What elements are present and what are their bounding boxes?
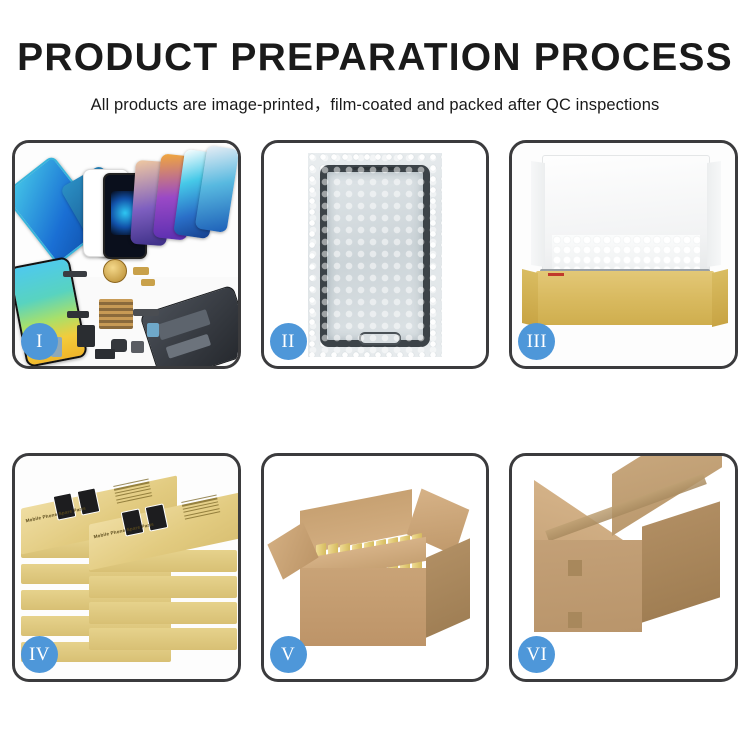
part-gold-clip bbox=[141, 279, 155, 286]
carton-tab-lower bbox=[568, 612, 582, 628]
carton-front-panel bbox=[300, 568, 426, 646]
box-layer-r3 bbox=[89, 576, 237, 598]
page-header: PRODUCT PREPARATION PROCESS All products… bbox=[0, 0, 750, 115]
step-badge-2: II bbox=[270, 323, 307, 360]
part-gold-bracket bbox=[133, 267, 149, 275]
process-step-6[interactable]: VI bbox=[509, 453, 738, 682]
part-shield bbox=[95, 349, 115, 359]
process-step-3[interactable]: III bbox=[509, 140, 738, 369]
part-vibrator bbox=[131, 341, 144, 353]
kraft-box-tray bbox=[536, 271, 714, 325]
process-step-5[interactable]: V bbox=[261, 453, 490, 682]
page-subtitle: All products are image-printed，film-coat… bbox=[0, 91, 750, 115]
ic-chip-part bbox=[99, 299, 133, 329]
process-step-4[interactable]: Mobile Phone Spare Parts Mobile Phone Sp… bbox=[12, 453, 241, 682]
sealed-carton-side bbox=[642, 501, 720, 622]
step-badge-1: I bbox=[21, 323, 58, 360]
speaker-coil-part bbox=[103, 259, 127, 283]
part-ribbon bbox=[133, 309, 159, 316]
part-connector bbox=[63, 271, 87, 277]
box-layer-r4 bbox=[89, 602, 237, 624]
part-flex-cable bbox=[67, 311, 89, 318]
carton-tab-upper bbox=[568, 560, 582, 576]
part-blue-chip bbox=[147, 323, 159, 337]
sealed-carton-front bbox=[534, 540, 642, 632]
red-label-mark bbox=[548, 273, 564, 276]
box-layer-r5 bbox=[89, 628, 237, 650]
step-badge-5: V bbox=[270, 636, 307, 673]
part-camera-module bbox=[77, 325, 95, 347]
carton-side-panel bbox=[426, 538, 470, 638]
process-grid: I II III bbox=[12, 140, 738, 682]
process-step-1[interactable]: I bbox=[12, 140, 241, 369]
step-badge-4: IV bbox=[21, 636, 58, 673]
process-row-top: I II III bbox=[12, 140, 738, 369]
page-title: PRODUCT PREPARATION PROCESS bbox=[0, 38, 750, 77]
process-row-bottom: Mobile Phone Spare Parts Mobile Phone Sp… bbox=[12, 453, 738, 682]
process-step-2[interactable]: II bbox=[261, 140, 490, 369]
phone-screen-assembly bbox=[320, 165, 430, 347]
